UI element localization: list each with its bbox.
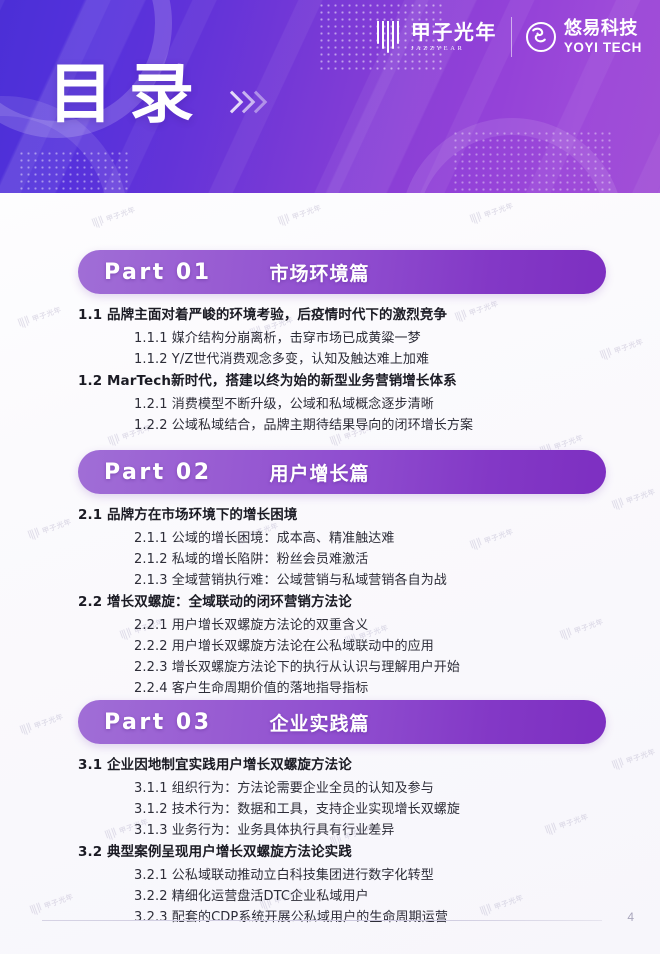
page-header-banner: 甲子光年 JAZZYEAR 悠易科技 YOYI TECH [0, 0, 660, 193]
toc-entry-level2[interactable]: 2.2.2 用户增长双螺旋方法论在公私域联动中的应用 [134, 636, 660, 657]
slide-page: 甲子光年 JAZZYEAR 悠易科技 YOYI TECH [0, 0, 660, 954]
part-section: Part 01市场环境篇1.1 品牌主面对着严峻的环境考验，后疫情时代下的激烈竞… [0, 250, 660, 436]
jazzyear-name-cn: 甲子光年 [411, 22, 497, 42]
part-section: Part 02用户增长篇2.1 品牌方在市场环境下的增长困境2.1.1 公域的增… [0, 450, 660, 699]
toc-entry-level2[interactable]: 3.1.3 业务行为：业务具体执行具有行业差异 [134, 820, 660, 841]
toc-entry-level2[interactable]: 2.2.3 增长双螺旋方法论下的执行从认识与理解用户开始 [134, 657, 660, 678]
toc-entry-level2[interactable]: 3.1.1 组织行为：方法论需要企业全员的认知及参与 [134, 778, 660, 799]
watermark-text: 甲子光年 [291, 202, 323, 222]
part-title: 企业实践篇 [270, 709, 370, 736]
toc-entry-level1[interactable]: 3.2 典型案例呈现用户增长双螺旋方法论实践 [78, 842, 660, 863]
part-banner[interactable]: Part 01市场环境篇 [78, 250, 606, 294]
toc-entry-level2[interactable]: 2.2.4 客户生命周期价值的落地指导指标 [134, 678, 660, 699]
part-section: Part 03企业实践篇3.1 企业因地制宜实践用户增长双螺旋方法论3.1.1 … [0, 700, 660, 928]
toc-entry-level1[interactable]: 1.2 MarTech新时代，搭建以终为始的新型业务营销增长体系 [78, 371, 660, 392]
watermark: 甲子光年 [277, 202, 322, 228]
jazzyear-logo: 甲子光年 JAZZYEAR [377, 21, 497, 53]
toc-entry-level2[interactable]: 2.1.3 全域营销执行难：公域营销与私域营销各自为战 [134, 570, 660, 591]
five-bars-icon [469, 211, 483, 225]
toc-entry-level2[interactable]: 3.1.2 技术行为：数据和工具，支持企业实现增长双螺旋 [134, 799, 660, 820]
part-label: Part 03 [104, 710, 212, 735]
part-label: Part 02 [104, 460, 212, 485]
brand-logo-row: 甲子光年 JAZZYEAR 悠易科技 YOYI TECH [377, 14, 642, 60]
toc-entry-level1[interactable]: 2.1 品牌方在市场环境下的增长困境 [78, 505, 660, 526]
dot-grid-decoration-right [452, 130, 612, 193]
table-of-contents: 甲子光年甲子光年甲子光年甲子光年甲子光年甲子光年甲子光年甲子光年甲子光年甲子光年… [0, 193, 660, 954]
circle-ring-decoration-bottom-right [400, 118, 624, 193]
part-label: Part 01 [104, 260, 212, 285]
entry-list: 1.1 品牌主面对着严峻的环境考验，后疫情时代下的激烈竞争1.1.1 媒介结构分… [0, 305, 660, 436]
footer-divider [42, 920, 602, 921]
jazzyear-name-en: JAZZYEAR [411, 46, 497, 53]
watermark-text: 甲子光年 [105, 204, 137, 224]
toc-entry-level2[interactable]: 2.1.2 私域的增长陷阱：粉丝会员难激活 [134, 549, 660, 570]
five-bars-icon [91, 215, 105, 229]
watermark: 甲子光年 [91, 204, 136, 230]
toc-entry-level2[interactable]: 1.1.1 媒介结构分崩离析，击穿市场已成黄粱一梦 [134, 328, 660, 349]
page-number: 4 [627, 910, 634, 924]
dot-grid-decoration-left [18, 150, 130, 193]
part-title: 市场环境篇 [270, 259, 370, 286]
part-title: 用户增长篇 [270, 459, 370, 486]
yoyitech-name-en: YOYI TECH [564, 41, 642, 55]
circle-swirl-icon [526, 22, 556, 52]
toc-entry-level2[interactable]: 3.2.1 公私域联动推动立白科技集团进行数字化转型 [134, 865, 660, 886]
five-bars-icon [277, 213, 291, 227]
toc-entry-level2[interactable]: 1.2.1 消费模型不断升级，公域和私域概念逐步清晰 [134, 394, 660, 415]
entry-list: 2.1 品牌方在市场环境下的增长困境2.1.1 公域的增长困境：成本高、精准触达… [0, 505, 660, 699]
page-footer: 4 [0, 898, 660, 954]
toc-entry-level2[interactable]: 2.2.1 用户增长双螺旋方法论的双重含义 [134, 615, 660, 636]
yoyitech-logo: 悠易科技 YOYI TECH [526, 20, 642, 55]
chevron-right-icon [246, 90, 261, 118]
toc-entry-level2[interactable]: 1.1.2 Y/Z世代消费观念多变，认知及触达难上加难 [134, 349, 660, 370]
toc-entry-level2[interactable]: 1.2.2 公域私域结合，品牌主期待结果导向的闭环增长方案 [134, 415, 660, 436]
toc-entry-level2[interactable]: 2.1.1 公域的增长困境：成本高、精准触达难 [134, 528, 660, 549]
toc-entry-level1[interactable]: 2.2 增长双螺旋：全域联动的闭环营销方法论 [78, 592, 660, 613]
watermark: 甲子光年 [469, 200, 514, 226]
part-banner[interactable]: Part 02用户增长篇 [78, 450, 606, 494]
toc-entry-level1[interactable]: 3.1 企业因地制宜实践用户增长双螺旋方法论 [78, 755, 660, 776]
five-bars-icon [377, 21, 402, 53]
logo-divider [511, 17, 512, 57]
chevron-right-icon-group [222, 90, 258, 118]
watermark-text: 甲子光年 [483, 200, 515, 220]
yoyitech-name-cn: 悠易科技 [564, 20, 642, 38]
part-banner[interactable]: Part 03企业实践篇 [78, 700, 606, 744]
toc-entry-level1[interactable]: 1.1 品牌主面对着严峻的环境考验，后疫情时代下的激烈竞争 [78, 305, 660, 326]
page-title-text: 目录 [48, 62, 210, 127]
page-title: 目录 [48, 62, 258, 127]
